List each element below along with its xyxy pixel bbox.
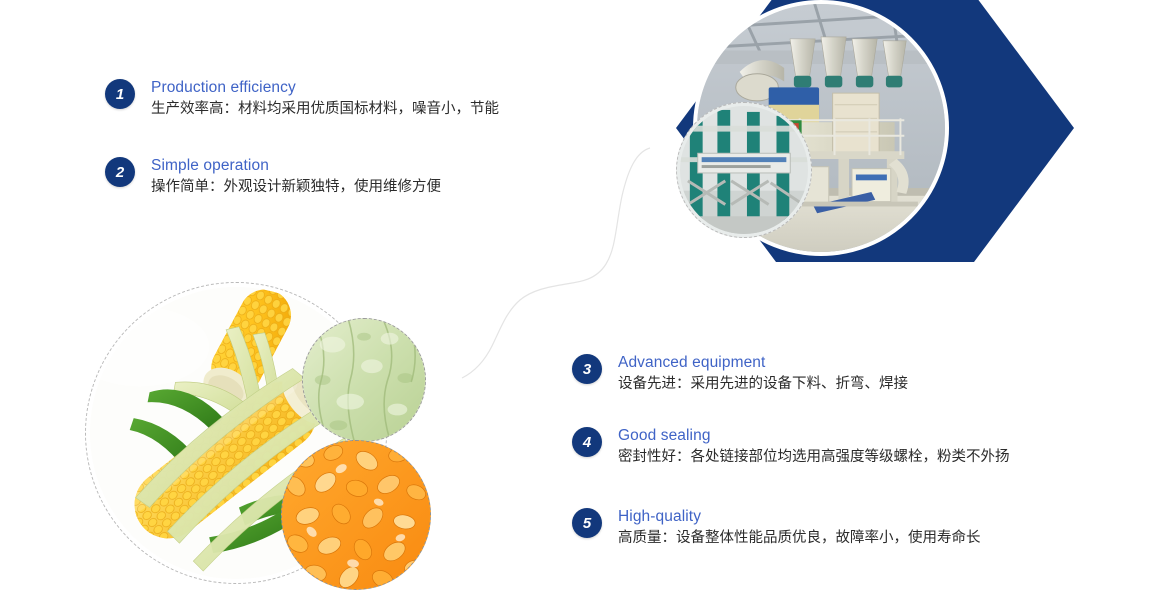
bottom-left-media-cluster (85, 282, 485, 591)
feature-item-1[interactable]: 1 Production efficiency 生产效率高：材料均采用优质国标材… (105, 78, 499, 120)
feature-description-4: 密封性好：各处链接部位均选用高强度等级螺栓，粉类不外扬 (618, 446, 1010, 468)
feature-infographic: 1 Production efficiency 生产效率高：材料均采用优质国标材… (0, 0, 1154, 591)
green-machinery-image (680, 106, 808, 234)
feature-item-4[interactable]: 4 Good sealing 密封性好：各处链接部位均选用高强度等级螺栓，粉类不… (572, 426, 1010, 468)
green-corn-paste-photo (302, 318, 426, 442)
feature-description-3: 设备先进：采用先进的设备下料、折弯、焊接 (618, 373, 908, 395)
feature-item-3[interactable]: 3 Advanced equipment 设备先进：采用先进的设备下料、折弯、焊… (572, 353, 908, 395)
feature-text-2: Simple operation 操作简单：外观设计新颖独特，使用维修方便 (151, 156, 441, 198)
feature-badge-4: 4 (572, 427, 602, 457)
feature-heading-5: High-quality (618, 507, 981, 526)
feature-text-5: High-quality 高质量：设备整体性能品质优良，故障率小，使用寿命长 (618, 507, 981, 549)
green-milling-machinery-photo (676, 102, 812, 238)
feature-heading-1: Production efficiency (151, 78, 499, 97)
feature-description-1: 生产效率高：材料均采用优质国标材料，噪音小，节能 (151, 98, 499, 120)
feature-heading-4: Good sealing (618, 426, 1010, 445)
feature-text-4: Good sealing 密封性好：各处链接部位均选用高强度等级螺栓，粉类不外扬 (618, 426, 1010, 468)
feature-badge-3: 3 (572, 354, 602, 384)
feature-description-2: 操作简单：外观设计新颖独特，使用维修方便 (151, 176, 441, 198)
feature-heading-3: Advanced equipment (618, 353, 908, 372)
feature-item-5[interactable]: 5 High-quality 高质量：设备整体性能品质优良，故障率小，使用寿命长 (572, 507, 981, 549)
feature-badge-2: 2 (105, 157, 135, 187)
feature-heading-2: Simple operation (151, 156, 441, 175)
feature-text-1: Production efficiency 生产效率高：材料均采用优质国标材料，… (151, 78, 499, 120)
feature-description-5: 高质量：设备整体性能品质优良，故障率小，使用寿命长 (618, 527, 981, 549)
feature-item-2[interactable]: 2 Simple operation 操作简单：外观设计新颖独特，使用维修方便 (105, 156, 441, 198)
corn-paste-image (303, 319, 425, 441)
corn-grits-image (282, 441, 430, 589)
feature-badge-5: 5 (572, 508, 602, 538)
orange-corn-grits-photo (281, 440, 431, 590)
feature-text-3: Advanced equipment 设备先进：采用先进的设备下料、折弯、焊接 (618, 353, 908, 395)
top-right-media-cluster (660, 0, 1080, 282)
feature-badge-1: 1 (105, 79, 135, 109)
